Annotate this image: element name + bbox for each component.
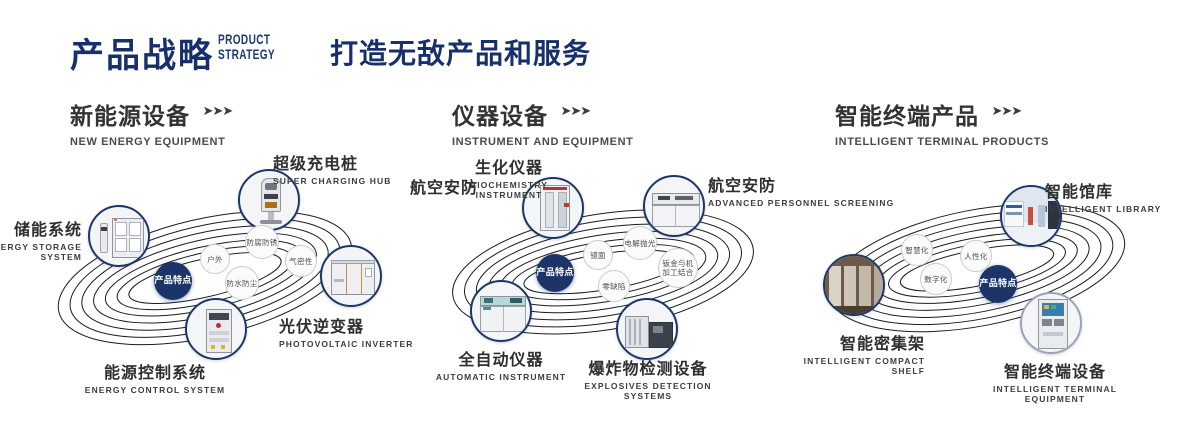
- feature-label: 户外: [207, 255, 223, 264]
- label-super-charging-hub: 超级充电桩 SUPER CHARGING HUB: [273, 150, 392, 186]
- section-heading-cn: 智能终端产品: [835, 97, 979, 131]
- feature-bubble-humanized[interactable]: 人性化: [960, 240, 992, 272]
- feature-bubble-electropolish[interactable]: 电解抛光: [623, 226, 657, 260]
- section-heading-en: NEW ENERGY EQUIPMENT: [70, 136, 232, 148]
- label-cn: 光伏逆变器: [279, 313, 414, 337]
- section-heading-new-energy: 新能源设备 ➤➤➤ NEW ENERGY EQUIPMENT: [70, 97, 232, 148]
- label-en: EXPLOSIVES DETECTION SYSTEMS: [566, 381, 730, 401]
- label-automatic-instrument: 全自动仪器 AUTOMATIC INSTRUMENT: [426, 346, 576, 382]
- feature-label: 防水防尘: [226, 279, 257, 288]
- label-cn: 爆炸物检测设备: [566, 355, 730, 379]
- label-en: INTELLIGENT LIBRARY: [1045, 204, 1161, 214]
- feature-bubble-outdoor[interactable]: 户外: [200, 244, 230, 274]
- label-cn: 智能密集架: [800, 330, 925, 354]
- feature-bubble-sheetmetal-machining[interactable]: 钣金与机加工结合: [658, 248, 698, 288]
- page-header: 产品战略 PRODUCT STRATEGY 打造无敌产品和服务: [0, 0, 1200, 86]
- label-en: SUPER CHARGING HUB: [273, 176, 392, 186]
- feature-bubble-zero-defect[interactable]: 零缺陷: [598, 270, 630, 302]
- feature-core-bubble[interactable]: 产品特点: [979, 265, 1017, 303]
- feature-label: 镜面: [590, 251, 606, 260]
- chevron-triple-right-icon: ➤➤➤: [560, 103, 590, 119]
- label-en: ADVANCED PERSONNEL SCREENING: [708, 198, 812, 208]
- feature-core-label: 产品特点: [536, 268, 573, 279]
- label-en: BIOCHEMISTRY INSTRUMENT: [456, 180, 562, 200]
- chevron-triple-right-icon: ➤➤➤: [202, 103, 232, 119]
- label-photovoltaic-inverter: 光伏逆变器 PHOTOVOLTAIC INVERTER: [279, 313, 414, 349]
- section-heading-instruments: 仪器设备 ➤➤➤ INSTRUMENT AND EQUIPMENT: [452, 97, 633, 148]
- label-en: ENERGY CONTROL SYSTEM: [60, 385, 250, 395]
- label-cn: 全自动仪器: [426, 346, 576, 370]
- control-cabinet-icon: [187, 300, 245, 358]
- feature-label: 电解抛光: [624, 239, 655, 248]
- feature-label: 人性化: [964, 252, 987, 261]
- page-title-english-line1: PRODUCT: [218, 32, 275, 47]
- chevron-triple-right-icon: ➤➤➤: [991, 103, 1021, 119]
- explosive-detector-icon: [618, 300, 676, 358]
- page-title-english-line2: STRATEGY: [218, 47, 275, 62]
- node-explosive-detector[interactable]: [616, 298, 678, 360]
- label-intelligent-terminal-equipment: 智能终端设备 INTELLIGENT TERMINAL EQUIPMENT: [970, 358, 1140, 404]
- node-control-cabinet[interactable]: [185, 298, 247, 360]
- self-service-kiosk-icon: [1022, 294, 1080, 352]
- label-advanced-personnel-screening: 航空安防 ADVANCED PERSONNEL SCREENING: [708, 172, 812, 208]
- label-en: PHOTOVOLTAIC INVERTER: [279, 339, 414, 349]
- label-energy-control-system: 能源控制系统 ENERGY CONTROL SYSTEM: [60, 359, 250, 395]
- label-intelligent-library: 智能馆库 INTELLIGENT LIBRARY: [1045, 178, 1161, 214]
- compact-shelf-icon: [825, 256, 883, 314]
- feature-bubble-airtight[interactable]: 气密性: [285, 245, 317, 277]
- label-en: INTELLIGENT COMPACT SHELF: [800, 356, 925, 376]
- feature-bubble-waterproof[interactable]: 防水防尘: [225, 266, 259, 300]
- label-en: AUTOMATIC INSTRUMENT: [426, 372, 576, 382]
- page-slogan: 打造无敌产品和服务: [330, 32, 591, 72]
- label-explosives-detection-systems: 爆炸物检测设备 EXPLOSIVES DETECTION SYSTEMS: [566, 355, 730, 401]
- label-en: INTELLIGENT TERMINAL EQUIPMENT: [970, 384, 1140, 404]
- label-cn: 航空安防: [708, 172, 812, 196]
- node-battery-cabinet[interactable]: [88, 205, 150, 267]
- feature-label: 气密性: [289, 257, 312, 266]
- label-cn: 智能终端设备: [970, 358, 1140, 382]
- label-biochemistry-instrument: 生化仪器 BIOCHEMISTRY INSTRUMENT: [456, 154, 562, 200]
- diagram-group-instruments: 产品特点 镜面 电解抛光 钣金与机加工结合 零缺陷 航空安防 生化仪器 BIOC…: [418, 150, 818, 410]
- page-title-english: PRODUCT STRATEGY: [218, 32, 275, 62]
- label-cn: 能源控制系统: [60, 359, 250, 383]
- feature-core-label: 产品特点: [979, 279, 1016, 290]
- label-en: ENERGY STORAGE SYSTEM: [0, 242, 82, 262]
- battery-cabinet-icon: [90, 207, 148, 265]
- label-cn: 生化仪器: [456, 154, 562, 178]
- node-inverter-cabinet[interactable]: [320, 245, 382, 307]
- section-heading-cn: 新能源设备: [70, 97, 190, 131]
- diagram-group-new-energy: 产品特点 户外 防腐防锈 防水防尘 气密性 储能系统 ENERGY STORAG…: [30, 150, 430, 410]
- feature-core-bubble[interactable]: 产品特点: [536, 254, 574, 292]
- diagram-group-intelligent-terminal: 产品特点 智慧化 数字化 人性化 智能馆库 INTELLIGENT LIBRAR…: [805, 150, 1200, 410]
- feature-label: 零缺陷: [602, 282, 625, 291]
- feature-label: 数字化: [924, 275, 947, 284]
- node-auto-analyzer[interactable]: [470, 280, 532, 342]
- page-title: 产品战略: [70, 28, 214, 77]
- feature-bubble-digital[interactable]: 数字化: [920, 263, 952, 295]
- feature-core-label: 产品特点: [154, 276, 191, 287]
- section-heading-en: INSTRUMENT AND EQUIPMENT: [452, 136, 633, 148]
- feature-bubble-intelligent[interactable]: 智慧化: [901, 234, 933, 266]
- section-heading-intelligent-terminal: 智能终端产品 ➤➤➤ INTELLIGENT TERMINAL PRODUCTS: [835, 97, 1049, 148]
- node-self-service-kiosk[interactable]: [1020, 292, 1082, 354]
- label-energy-storage-system: 储能系统 ENERGY STORAGE SYSTEM: [0, 216, 82, 262]
- screening-machine-icon: [645, 177, 703, 235]
- feature-label: 防腐防锈: [246, 238, 277, 247]
- feature-core-bubble[interactable]: 产品特点: [154, 262, 192, 300]
- label-cn: 超级充电桩: [273, 150, 392, 174]
- feature-bubble-anticorrosion[interactable]: 防腐防锈: [245, 225, 279, 259]
- label-cn: 储能系统: [0, 216, 82, 240]
- section-heading-cn: 仪器设备: [452, 97, 548, 131]
- label-cn: 智能馆库: [1045, 178, 1161, 202]
- label-intelligent-compact-shelf: 智能密集架 INTELLIGENT COMPACT SHELF: [800, 330, 925, 376]
- node-screening-machine[interactable]: [643, 175, 705, 237]
- feature-label: 钣金与机加工结合: [659, 259, 697, 277]
- section-heading-en: INTELLIGENT TERMINAL PRODUCTS: [835, 136, 1049, 148]
- auto-analyzer-icon: [472, 282, 530, 340]
- node-compact-shelf[interactable]: [823, 254, 885, 316]
- inverter-cabinet-icon: [322, 247, 380, 305]
- feature-bubble-mirror[interactable]: 镜面: [583, 240, 613, 270]
- feature-label: 智慧化: [905, 246, 928, 255]
